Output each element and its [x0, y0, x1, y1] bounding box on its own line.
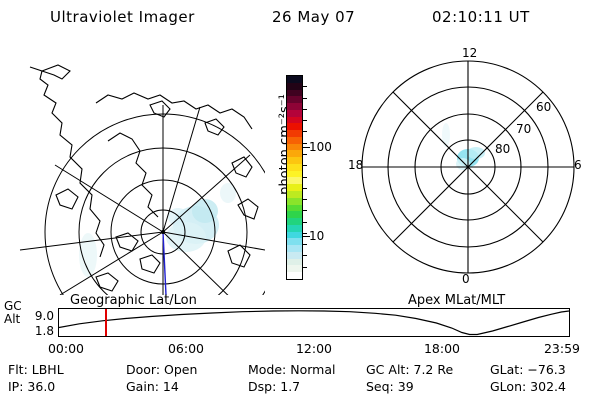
colorbar-segment: [287, 96, 302, 103]
colorbar-segment: [287, 171, 302, 178]
colorbar-segment: [287, 252, 302, 259]
status-field: GLon: 302.4: [490, 379, 566, 394]
colorbar-minor-tick: [302, 120, 307, 121]
colorbar-tick-label: 10: [309, 230, 324, 242]
colorbar-minor-tick: [302, 267, 307, 268]
orbit-x-tick-label: 06:00: [156, 341, 216, 356]
colorbar-minor-tick: [302, 165, 307, 166]
colorbar-segment: [287, 110, 302, 117]
colorbar-minor-tick: [302, 199, 307, 200]
pole-marker: [161, 230, 165, 234]
status-field: IP: 36.0: [8, 379, 55, 394]
geographic-map-title: Geographic Lat/Lon: [70, 293, 197, 308]
orbit-x-tick-label: 00:00: [36, 341, 96, 356]
latitude-ring-label: 60: [536, 100, 551, 114]
mlt-label: 0: [462, 272, 470, 286]
colorbar-minor-tick: [302, 177, 307, 178]
colorbar-segment: [287, 259, 302, 266]
status-field: Dsp: 1.7: [248, 379, 300, 394]
status-field: GLat: −76.3: [490, 362, 566, 377]
colorbar-minor-tick: [302, 143, 307, 144]
colorbar-segment: [287, 245, 302, 252]
orbit-y-tick-label: 9.0: [18, 309, 54, 323]
colorbar-segment: [287, 164, 302, 171]
colorbar-segment: [287, 150, 302, 157]
current-time-marker: [105, 309, 107, 336]
status-field: Flt: LBHL: [8, 362, 64, 377]
mlt-label: 12: [462, 46, 477, 60]
latitude-ring-label: 70: [516, 122, 531, 136]
orbit-x-tick-label: 18:00: [412, 341, 472, 356]
status-field: Mode: Normal: [248, 362, 335, 377]
colorbar-minor-tick: [302, 188, 307, 189]
colorbar-segment: [287, 272, 302, 279]
colorbar-segment: [287, 137, 302, 144]
orbit-curve-svg: [59, 309, 569, 336]
colorbar-segment: [287, 198, 302, 205]
status-row: IP: 36.0Gain: 14Dsp: 1.7Seq: 39GLon: 302…: [0, 379, 600, 396]
colorbar-segment: [287, 225, 302, 232]
orbit-x-tick-label: 23:59: [532, 341, 592, 356]
apex-plot-title: Apex MLat/MLT: [408, 293, 505, 308]
colorbar-segment: [287, 103, 302, 110]
colorbar-segment: [287, 218, 302, 225]
colorbar-segment: [287, 83, 302, 90]
colorbar-minor-tick: [302, 98, 307, 99]
apex-polar-panel: 126018 607080: [330, 40, 600, 295]
colorbar-segment: [287, 117, 302, 124]
orbit-y-tick-label: 1.8: [18, 324, 54, 338]
observation-date: 26 May 07: [272, 8, 355, 26]
colorbar-minor-tick: [302, 255, 307, 256]
mlt-label: 6: [574, 158, 582, 172]
status-field: Seq: 39: [366, 379, 414, 394]
observation-time: 02:10:11 UT: [432, 8, 530, 26]
latitude-grid: [45, 114, 265, 295]
status-field: Gain: 14: [126, 379, 179, 394]
colorbar-segment: [287, 211, 302, 218]
page-title: Ultraviolet Imager: [50, 8, 195, 26]
mlt-label: 18: [348, 158, 363, 172]
colorbar-minor-tick: [302, 210, 307, 211]
latitude-ring-label: 80: [495, 142, 510, 156]
colorbar-segment: [287, 232, 302, 239]
apex-polar-svg: [330, 40, 600, 295]
colorbar-minor-tick: [302, 86, 307, 87]
colorbar-segment: [287, 265, 302, 272]
colorbar-segment: [287, 157, 302, 164]
colorbar-minor-tick: [302, 244, 307, 245]
geographic-map-svg: [0, 45, 265, 295]
colorbar-segment: [287, 238, 302, 245]
orbit-altitude-curve: [59, 311, 569, 335]
status-field: GC Alt: 7.2 Re: [366, 362, 453, 377]
colorbar-minor-tick: [302, 233, 307, 234]
status-footer: Flt: LBHLDoor: OpenMode: NormalGC Alt: 7…: [0, 362, 600, 400]
colorbar-segment: [287, 76, 302, 83]
colorbar-segment: [287, 130, 302, 137]
colorbar-gradient: [286, 75, 303, 280]
colorbar-segment: [287, 123, 302, 130]
orbit-plot-box[interactable]: [58, 308, 570, 337]
status-row: Flt: LBHLDoor: OpenMode: NormalGC Alt: 7…: [0, 362, 600, 379]
geographic-map-panel: [0, 45, 265, 295]
geographic-emission-layer: [79, 183, 236, 277]
mlt-spokes: [362, 61, 574, 273]
colorbar-minor-tick: [302, 109, 307, 110]
colorbar-segment: [287, 90, 302, 97]
status-field: Door: Open: [126, 362, 197, 377]
colorbar-minor-tick: [302, 131, 307, 132]
colorbar-segment: [287, 177, 302, 184]
colorbar-tick-label: 100: [309, 141, 332, 153]
colorbar-segment: [287, 184, 302, 191]
colorbar-minor-tick: [302, 154, 307, 155]
colorbar-segment: [287, 205, 302, 212]
colorbar-segment: [287, 191, 302, 198]
colorbar-segment: [287, 144, 302, 151]
orbit-x-tick-label: 12:00: [284, 341, 344, 356]
colorbar-minor-tick: [302, 222, 307, 223]
